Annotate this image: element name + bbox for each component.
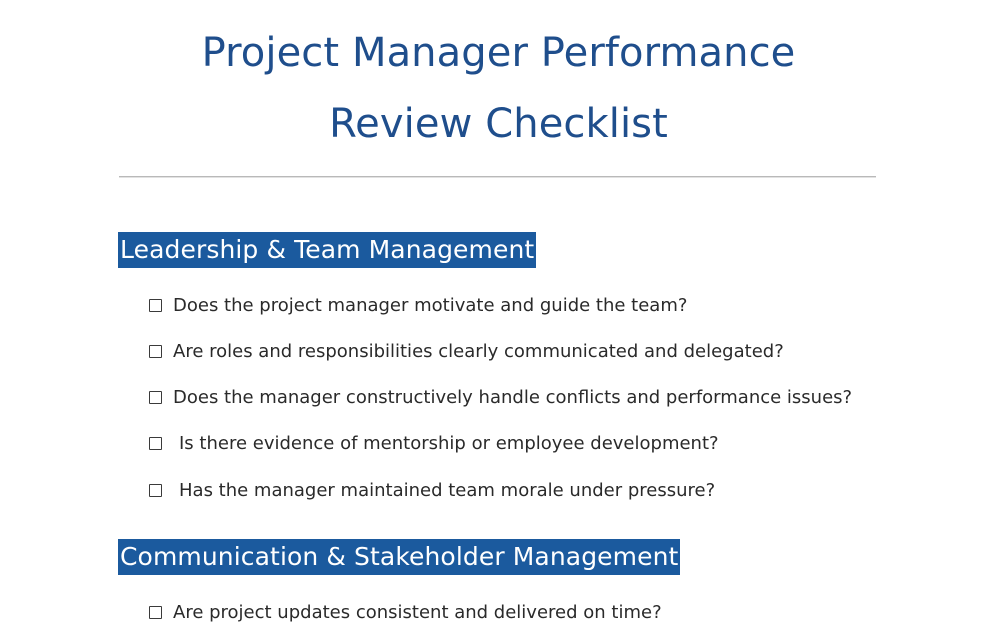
section-heading: Leadership & Team Management — [118, 232, 536, 268]
checklist-communication: Are project updates consistent and deliv… — [118, 575, 997, 629]
page-title: Project Manager Performance Review Check… — [0, 0, 997, 160]
checklist-item[interactable]: Is there evidence of mentorship or emplo… — [118, 428, 997, 460]
checklist-leadership: Does the project manager motivate and gu… — [118, 268, 997, 506]
checklist-item-label: Does the manager constructively handle c… — [173, 382, 885, 414]
checklist-item[interactable]: Are project updates consistent and deliv… — [118, 597, 997, 629]
page-title-line-1: Project Manager Performance — [120, 18, 877, 89]
unchecked-checkbox-icon[interactable] — [149, 437, 162, 450]
unchecked-checkbox-icon[interactable] — [149, 345, 162, 358]
unchecked-checkbox-icon[interactable] — [149, 299, 162, 312]
checklist-item-label: Does the project manager motivate and gu… — [173, 290, 885, 322]
checklist-item[interactable]: Does the project manager motivate and gu… — [118, 290, 997, 322]
checklist-item[interactable]: Are roles and responsibilities clearly c… — [118, 336, 997, 368]
unchecked-checkbox-icon[interactable] — [149, 391, 162, 404]
checklist-item-label: Are project updates consistent and deliv… — [173, 597, 885, 629]
document-page: Project Manager Performance Review Check… — [0, 0, 997, 630]
checklist-content: Leadership & Team Management Does the pr… — [0, 180, 997, 628]
unchecked-checkbox-icon[interactable] — [149, 484, 162, 497]
section-heading: Communication & Stakeholder Management — [118, 539, 680, 575]
section-communication-stakeholder-management: Communication & Stakeholder Management A… — [118, 507, 997, 629]
section-leadership-team-management: Leadership & Team Management Does the pr… — [118, 180, 997, 506]
checklist-item-label: Is there evidence of mentorship or emplo… — [173, 428, 891, 460]
checklist-item-label: Are roles and responsibilities clearly c… — [173, 336, 885, 368]
checklist-item-label: Has the manager maintained team morale u… — [173, 475, 891, 507]
page-title-line-2: Review Checklist — [120, 89, 877, 160]
checklist-item[interactable]: Does the manager constructively handle c… — [118, 382, 997, 414]
horizontal-divider — [119, 176, 876, 178]
unchecked-checkbox-icon[interactable] — [149, 606, 162, 619]
checklist-item[interactable]: Has the manager maintained team morale u… — [118, 475, 997, 507]
